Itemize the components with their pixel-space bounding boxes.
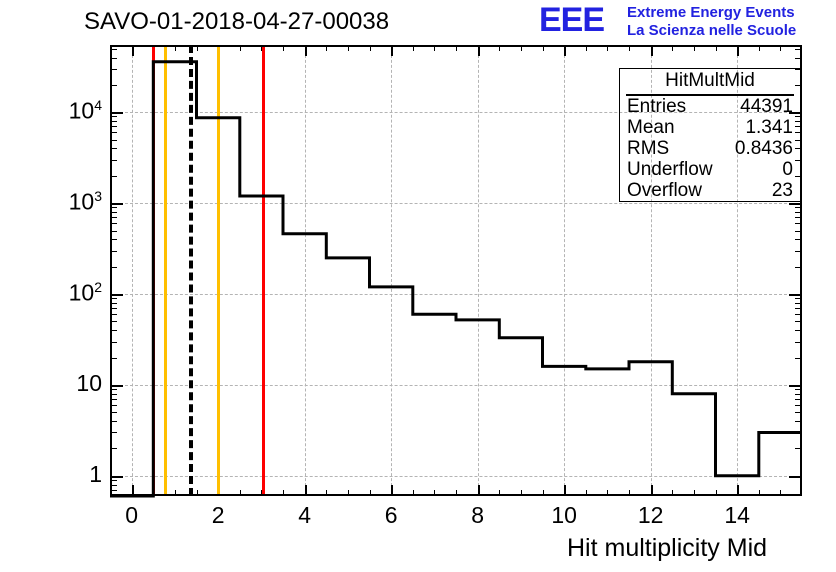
eee-logo: EEE Extreme Energy Events La Scienza nel… — [539, 2, 831, 42]
eee-logo-line1: Extreme Energy Events — [627, 4, 795, 21]
stats-row: Entries44391 — [620, 96, 800, 117]
x-tick-label: 6 — [385, 502, 398, 529]
x-axis-title: Hit multiplicity Mid — [567, 534, 767, 563]
eee-logo-mark: EEE — [539, 3, 604, 37]
y-tick-label: 1 — [89, 461, 102, 488]
stats-value: 0 — [782, 159, 793, 180]
stats-value: 44391 — [740, 96, 793, 117]
x-tick-label: 4 — [298, 502, 311, 529]
stats-box: HitMultMid Entries44391Mean1.341RMS0.843… — [619, 68, 801, 202]
stats-title: HitMultMid — [626, 69, 794, 96]
stats-key: Underflow — [627, 159, 713, 180]
y-tick-label: 103 — [69, 188, 102, 216]
stats-key: RMS — [627, 138, 669, 159]
stats-key: Overflow — [627, 180, 702, 201]
y-tick-label: 10 — [76, 370, 102, 397]
y-tick-label: 102 — [69, 279, 102, 307]
y-tick-label: 104 — [69, 97, 102, 125]
stats-row: Underflow0 — [620, 159, 800, 180]
stats-value: 23 — [772, 180, 793, 201]
stats-key: Mean — [627, 117, 675, 138]
stats-row: RMS0.8436 — [620, 138, 800, 159]
eee-logo-line2: La Scienza nelle Scuole — [627, 22, 796, 39]
page-title: SAVO-01-2018-04-27-00038 — [84, 8, 389, 36]
stats-value: 1.341 — [745, 117, 793, 138]
x-tick-label: 12 — [638, 502, 664, 529]
x-tick-label: 0 — [125, 502, 138, 529]
stats-value: 0.8436 — [735, 138, 793, 159]
x-tick-label: 10 — [551, 502, 577, 529]
stats-row: Overflow23 — [620, 180, 800, 201]
stats-row: Mean1.341 — [620, 117, 800, 138]
stats-key: Entries — [627, 96, 686, 117]
x-tick-label: 2 — [212, 502, 225, 529]
x-tick-label: 14 — [724, 502, 750, 529]
root-canvas: SAVO-01-2018-04-27-00038 EEE Extreme Ene… — [0, 0, 836, 572]
stats-rows: Entries44391Mean1.341RMS0.8436Underflow0… — [620, 96, 800, 201]
x-tick-label: 8 — [471, 502, 484, 529]
